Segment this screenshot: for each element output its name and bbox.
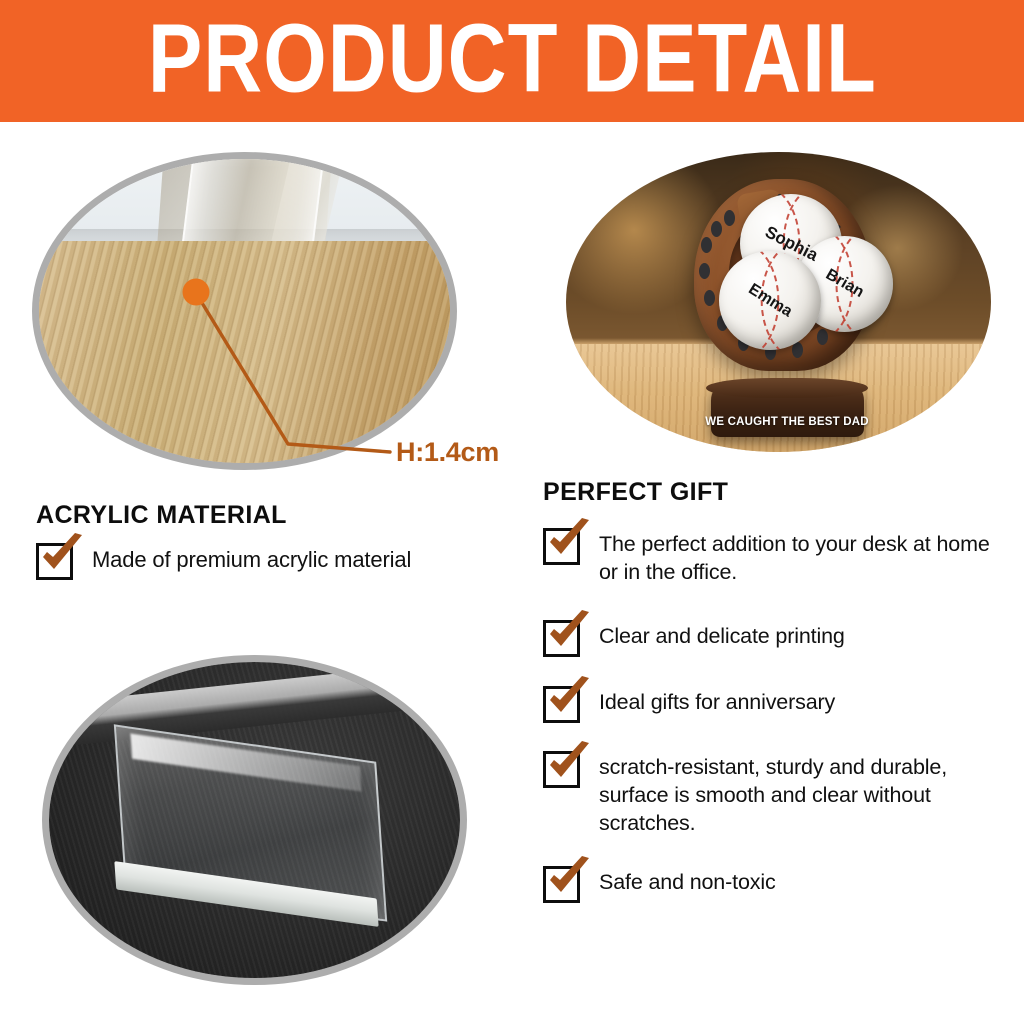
checkbox[interactable]: [36, 543, 73, 580]
feature-text: scratch-resistant, sturdy and durable, s…: [599, 751, 1009, 838]
feature-row: Made of premium acrylic material: [36, 543, 536, 580]
section-heading-perfect-gift: PERFECT GIFT: [543, 478, 728, 507]
feature-text: Safe and non-toxic: [599, 866, 776, 897]
dimension-label-height: H:1.4cm: [396, 437, 499, 468]
glove-edge-lace: [724, 210, 735, 226]
product-photo-acrylic-slab: [42, 655, 467, 985]
checkmark-icon: [545, 610, 595, 658]
wood-floor-background: [39, 159, 450, 463]
checkmark-icon: [545, 741, 595, 789]
checkbox[interactable]: [543, 866, 580, 903]
glove-edge-lace: [699, 263, 710, 279]
slate-background: [49, 662, 460, 978]
product-photo-glove-trophy: Sophia Brian Emma WE CAUGHT THE BEST DAD: [566, 152, 991, 452]
slate-edge-highlight: [42, 656, 467, 751]
header-bar: PRODUCT DETAIL: [0, 0, 1024, 122]
glove-edge-lace: [704, 290, 715, 306]
checkmark-icon: [38, 533, 88, 581]
checkbox[interactable]: [543, 620, 580, 657]
product-photo-acrylic-edge: [32, 152, 457, 470]
feature-row: Ideal gifts for anniversary: [543, 686, 1013, 723]
feature-list-acrylic-material: Made of premium acrylic material: [36, 543, 536, 599]
trophy-wooden-base: WE CAUGHT THE BEST DAD: [711, 386, 864, 437]
feature-text: The perfect addition to your desk at hom…: [599, 528, 994, 587]
feature-text: Clear and delicate printing: [599, 620, 845, 651]
feature-text: Ideal gifts for anniversary: [599, 686, 835, 717]
checkbox[interactable]: [543, 686, 580, 723]
feature-row: scratch-resistant, sturdy and durable, s…: [543, 751, 1013, 838]
feature-row: Clear and delicate printing: [543, 620, 1013, 657]
acrylic-base-edge: [168, 417, 312, 450]
base-plaque-text: WE CAUGHT THE BEST DAD: [705, 416, 868, 428]
checkmark-icon: [545, 518, 595, 566]
checkmark-icon: [545, 676, 595, 724]
feature-text: Made of premium acrylic material: [92, 543, 411, 575]
checkbox[interactable]: [543, 751, 580, 788]
baseball-emma: Emma: [719, 251, 821, 350]
checkmark-icon: [545, 856, 595, 904]
feature-list-perfect-gift: The perfect addition to your desk at hom…: [543, 528, 1013, 903]
checkbox[interactable]: [543, 528, 580, 565]
feature-row: The perfect addition to your desk at hom…: [543, 528, 1013, 587]
page-title: PRODUCT DETAIL: [147, 10, 876, 112]
glove-edge-lace: [701, 237, 712, 253]
feature-row: Safe and non-toxic: [543, 866, 1013, 903]
glove-edge-lace: [711, 221, 722, 237]
section-heading-acrylic-material: ACRYLIC MATERIAL: [36, 501, 287, 530]
